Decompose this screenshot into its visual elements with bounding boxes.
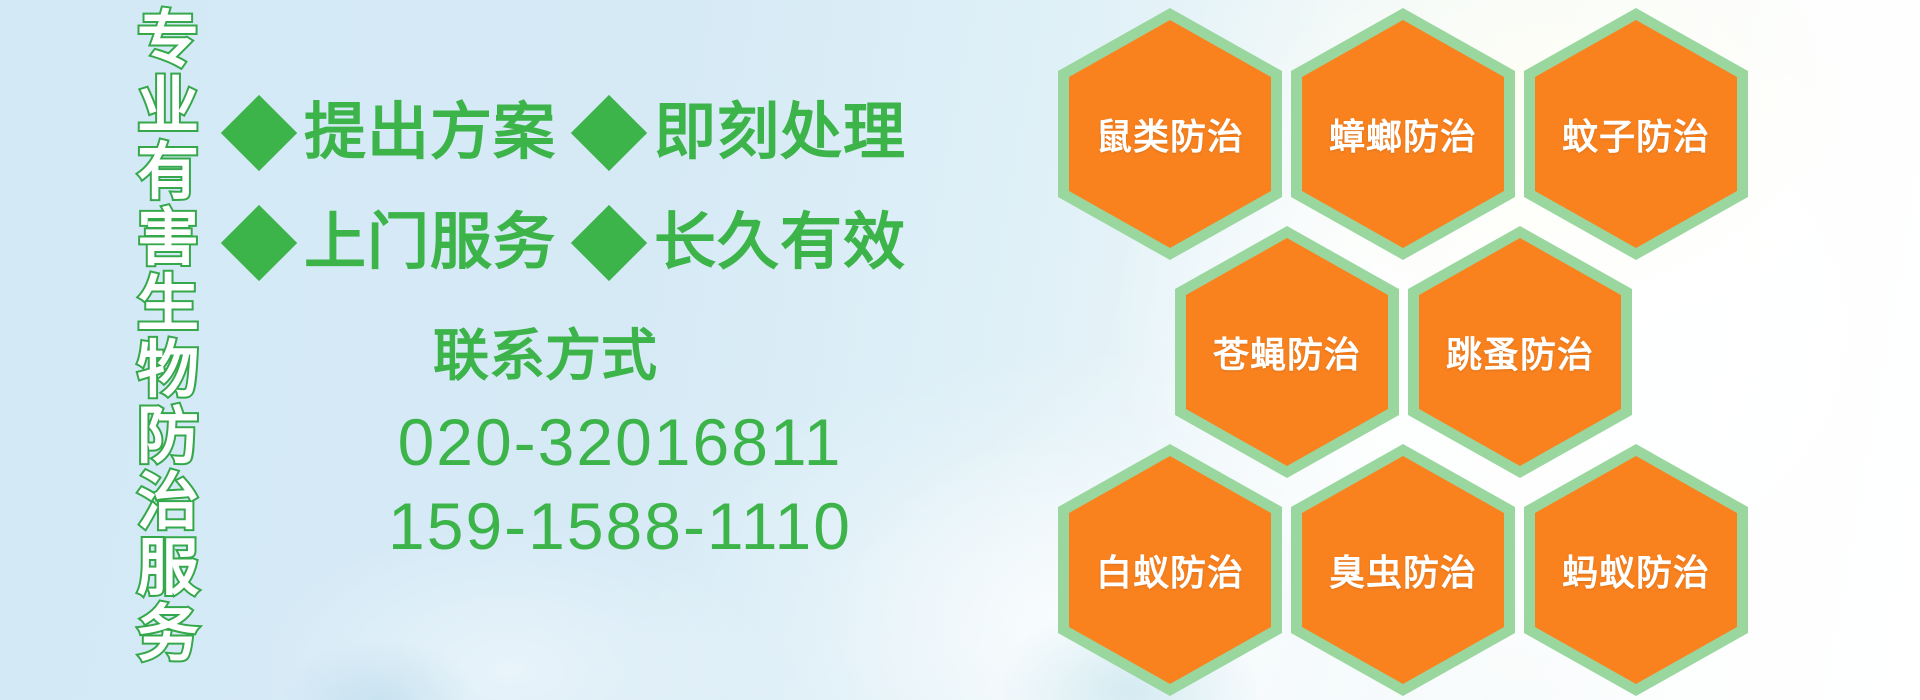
vertical-headline: 专 业 有 害 生 物 防 治 服 务	[108, 8, 228, 698]
contact-title: 联系方式	[300, 320, 940, 392]
diamond-bullet-icon	[221, 205, 297, 281]
diamond-bullet-icon	[571, 95, 647, 171]
vertical-headline-char: 有	[137, 140, 199, 206]
feature-label: 提出方案	[304, 101, 556, 165]
feature-row: 上门服务 长久有效	[232, 188, 872, 298]
vertical-headline-char: 治	[137, 470, 199, 536]
pest-control-banner: 专 业 有 害 生 物 防 治 服 务 提出方案 即刻处理 上门服务	[0, 0, 1920, 700]
vertical-headline-char: 害	[137, 206, 199, 272]
feature-item-immediate-treatment: 即刻处理	[582, 101, 906, 165]
service-hex-label: 鼠类防治	[1096, 108, 1244, 160]
service-hex-label: 苍蝇防治	[1213, 326, 1361, 378]
service-hex-label: 白蚁防治	[1096, 544, 1244, 596]
vertical-headline-char: 防	[137, 404, 199, 470]
vertical-headline-char: 物	[137, 338, 199, 404]
service-hex-mosquito[interactable]: 蚊子防治	[1524, 8, 1748, 260]
service-hex-termite[interactable]: 白蚁防治	[1058, 444, 1282, 696]
service-hexagon-grid: 鼠类防治 蟑螂防治 蚊子防治 苍蝇防治 跳蚤防治 白蚁防治 臭虫防治	[1058, 0, 1778, 700]
service-hex-label: 蟑螂防治	[1329, 108, 1477, 160]
feature-list: 提出方案 即刻处理 上门服务 长久有效	[232, 78, 872, 298]
service-hex-fly[interactable]: 苍蝇防治	[1175, 226, 1399, 478]
feature-item-long-lasting: 长久有效	[582, 211, 906, 275]
diamond-bullet-icon	[221, 95, 297, 171]
diamond-bullet-icon	[571, 205, 647, 281]
feature-item-propose-plan: 提出方案	[232, 101, 556, 165]
feature-label: 即刻处理	[654, 101, 906, 165]
vertical-headline-char: 业	[137, 74, 199, 140]
service-hex-label: 跳蚤防治	[1446, 326, 1594, 378]
feature-label: 长久有效	[654, 211, 906, 275]
service-hex-label: 蚊子防治	[1562, 108, 1710, 160]
service-hex-label: 臭虫防治	[1329, 544, 1477, 596]
contact-phone-landline[interactable]: 020-32016811	[300, 400, 940, 484]
feature-label: 上门服务	[304, 211, 556, 275]
vertical-headline-char: 专	[137, 8, 199, 74]
service-hex-flea[interactable]: 跳蚤防治	[1408, 226, 1632, 478]
service-hex-bedbug[interactable]: 臭虫防治	[1291, 444, 1515, 696]
vertical-headline-char: 务	[137, 602, 199, 668]
service-hex-rodent[interactable]: 鼠类防治	[1058, 8, 1282, 260]
vertical-headline-char: 服	[137, 536, 199, 602]
contact-block: 联系方式 020-32016811 159-1588-1110	[300, 320, 940, 568]
feature-row: 提出方案 即刻处理	[232, 78, 872, 188]
service-hex-label: 蚂蚁防治	[1562, 544, 1710, 596]
vertical-headline-char: 生	[137, 272, 199, 338]
service-hex-cockroach[interactable]: 蟑螂防治	[1291, 8, 1515, 260]
background-glow-left-spot	[280, 640, 480, 700]
feature-item-onsite-service: 上门服务	[232, 211, 556, 275]
contact-phone-mobile[interactable]: 159-1588-1110	[300, 484, 940, 568]
service-hex-ant[interactable]: 蚂蚁防治	[1524, 444, 1748, 696]
